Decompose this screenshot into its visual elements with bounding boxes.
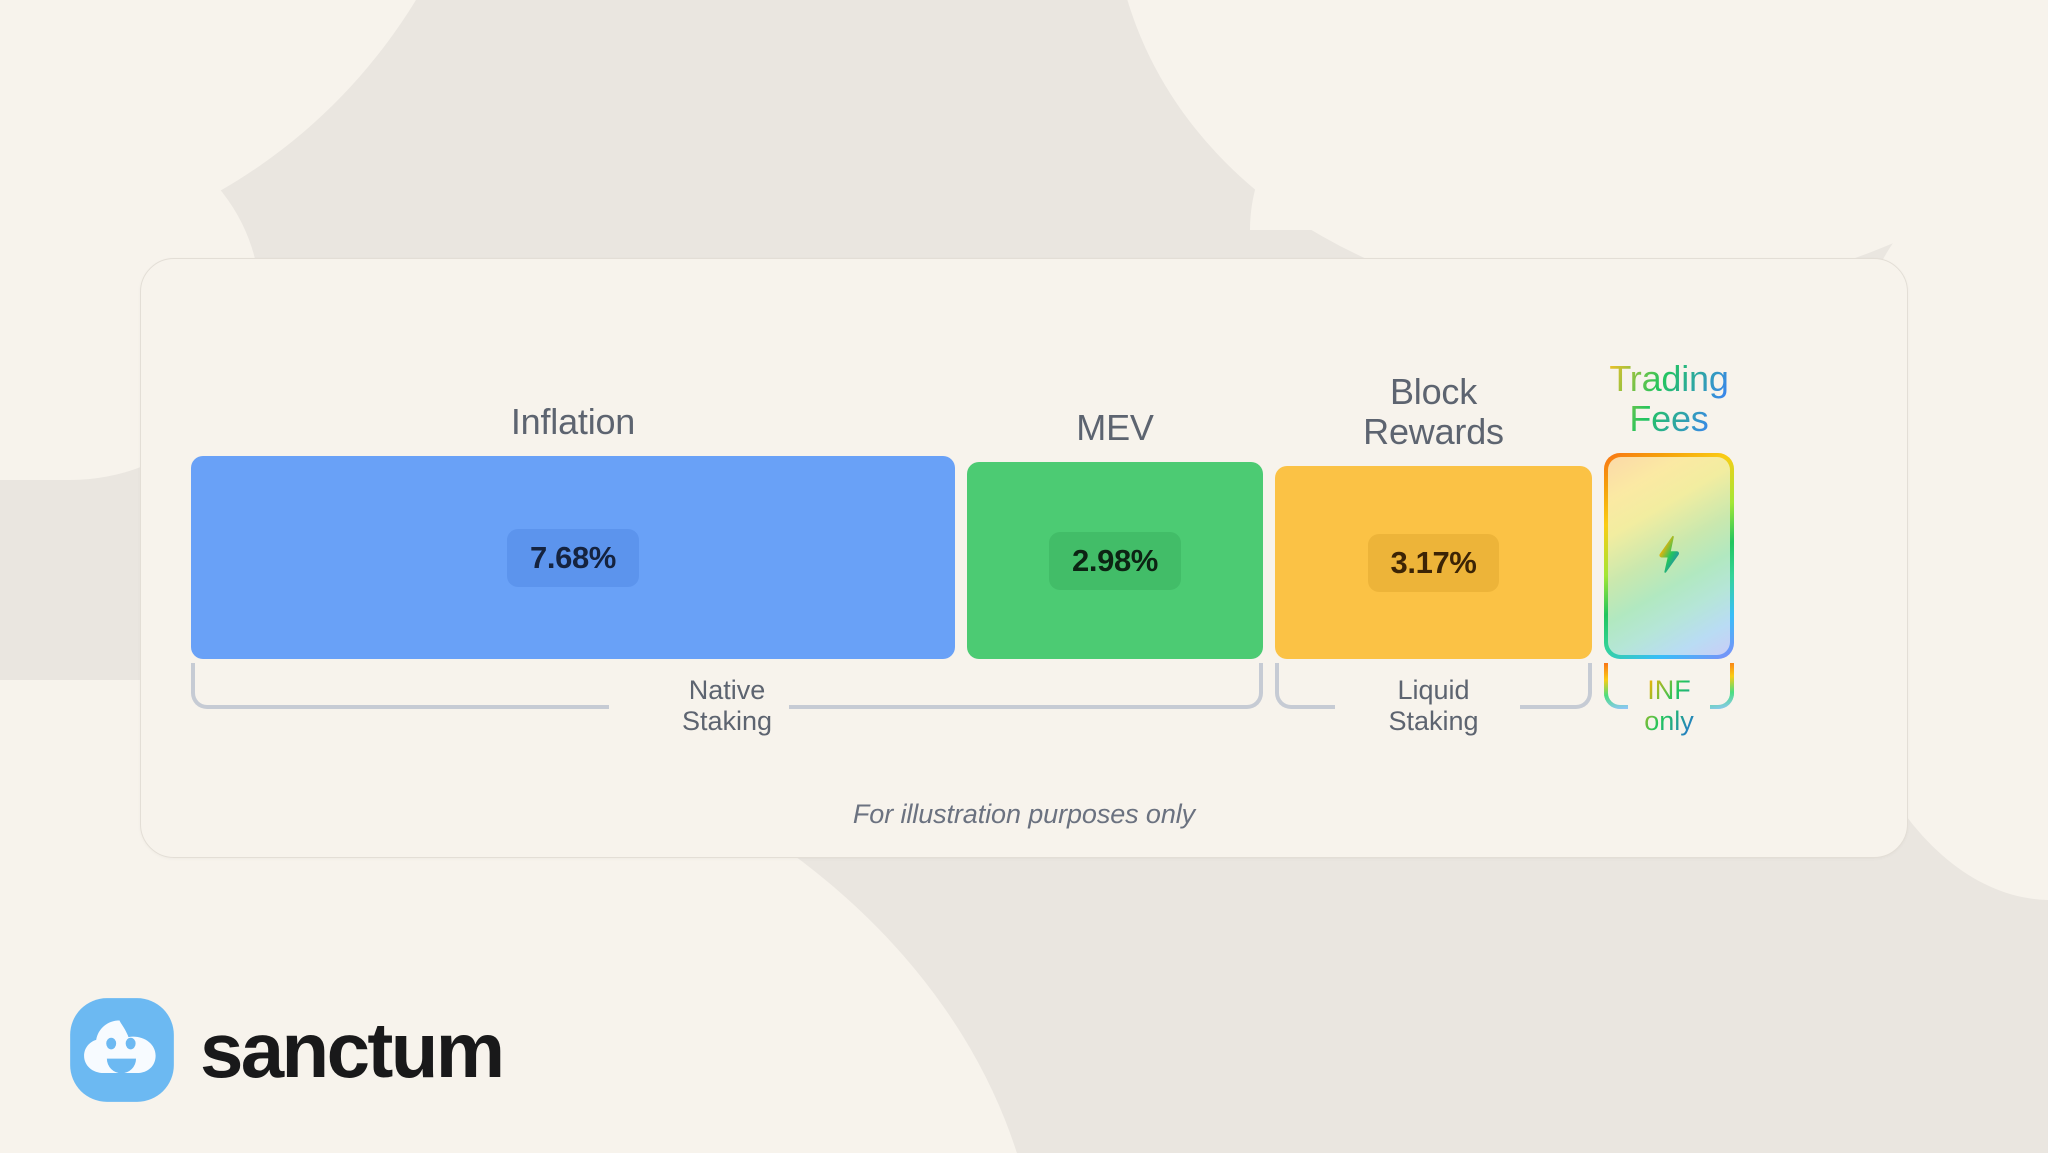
- bracket-arm-left: [1275, 663, 1335, 709]
- bracket-label-native-staking: Native Staking: [668, 675, 786, 737]
- column-mev: MEV 2.98%: [967, 259, 1263, 659]
- bar-block-rewards[interactable]: 3.17%: [1275, 466, 1592, 659]
- bar-trading-fees[interactable]: [1604, 453, 1734, 659]
- column-label-block-rewards: Block Rewards: [1363, 259, 1504, 466]
- bracket-label-inf-only: INF only: [1630, 675, 1708, 737]
- bracket-native-staking: Native Staking: [191, 663, 1263, 709]
- column-block-rewards: Block Rewards 3.17%: [1275, 259, 1592, 659]
- bracket-arm-right: [789, 663, 1263, 709]
- column-inflation: Inflation 7.68%: [191, 259, 955, 659]
- value-pill-mev: 2.98%: [1049, 532, 1181, 590]
- bar-mev[interactable]: 2.98%: [967, 462, 1263, 659]
- bracket-inf-only: INF only: [1604, 663, 1734, 709]
- bracket-arm-left: [1604, 663, 1628, 709]
- bracket-liquid-staking: Liquid Staking: [1275, 663, 1592, 709]
- bracket-arm-right: [1710, 663, 1734, 709]
- bracket-arm-left: [191, 663, 609, 709]
- bracket-label-liquid-staking: Liquid Staking: [1374, 675, 1492, 737]
- value-pill-inflation: 7.68%: [507, 529, 639, 587]
- bracket-groups: Native Staking Liquid Staking INF only: [191, 663, 1857, 779]
- lightning-bolt-icon: [1645, 532, 1693, 580]
- brand-name: sanctum: [200, 1011, 503, 1089]
- column-label-trading-fees: Trading Fees: [1609, 259, 1728, 453]
- column-label-mev: MEV: [1076, 259, 1153, 462]
- bar-columns: Inflation 7.68% MEV 2.98% Block Rewards …: [191, 259, 1857, 659]
- column-trading-fees: Trading Fees: [1604, 259, 1734, 659]
- sanctum-ghost-icon: [68, 996, 176, 1104]
- bar-inflation[interactable]: 7.68%: [191, 456, 955, 659]
- bar-trading-fees-inner: [1608, 457, 1730, 655]
- yield-breakdown-card: Inflation 7.68% MEV 2.98% Block Rewards …: [140, 258, 1908, 858]
- brand-logo: sanctum: [68, 996, 503, 1104]
- value-pill-block-rewards: 3.17%: [1368, 534, 1500, 592]
- illustration-footnote: For illustration purposes only: [141, 799, 1907, 830]
- column-label-inflation: Inflation: [511, 259, 635, 456]
- bracket-arm-right: [1520, 663, 1592, 709]
